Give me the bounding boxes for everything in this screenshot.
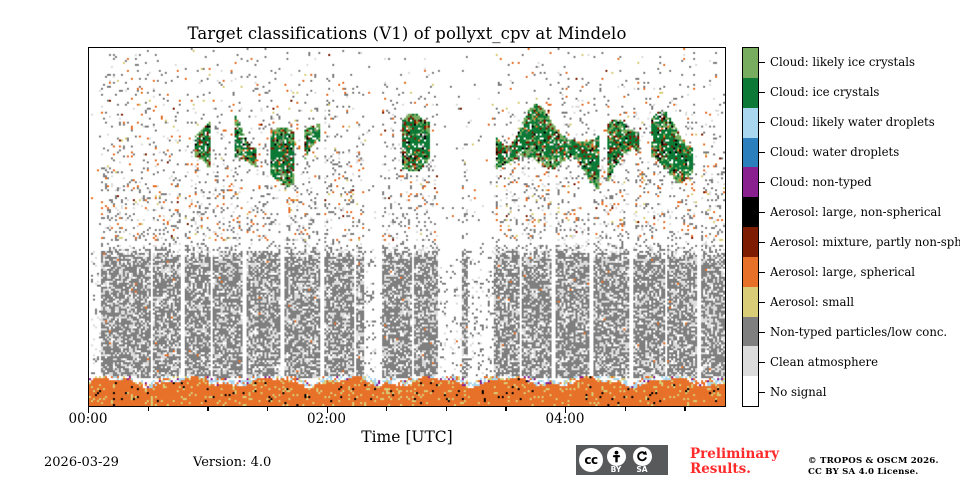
colorbar-tick xyxy=(759,332,765,333)
colorbar-segment xyxy=(743,48,758,78)
colorbar-tick xyxy=(759,242,765,243)
colorbar-label: Cloud: likely ice crystals xyxy=(770,55,915,69)
colorbar-tick xyxy=(759,92,765,93)
colorbar-tick xyxy=(759,302,765,303)
colorbar-segment xyxy=(743,317,758,347)
person-icon xyxy=(610,450,623,463)
colorbar-segment xyxy=(743,287,758,317)
colorbar-label: Cloud: ice crystals xyxy=(770,85,879,99)
colorbar-segment xyxy=(743,78,758,108)
preliminary-line-1: Preliminary xyxy=(690,447,786,462)
colorbar-segment xyxy=(743,138,758,168)
cc-logo-icon: cc xyxy=(579,448,603,472)
x-tick-label: 00:00 xyxy=(69,411,108,427)
preliminary-line-2: Results. xyxy=(690,462,786,477)
colorbar-tick xyxy=(759,122,765,123)
colorbar-segment xyxy=(743,376,758,406)
colorbar-tick xyxy=(759,272,765,273)
classification-heatmap xyxy=(89,48,725,406)
x-tick-mark-minor xyxy=(207,407,208,411)
colorbar-label: Aerosol: large, spherical xyxy=(770,265,915,279)
colorbar-tick xyxy=(759,152,765,153)
colorbar-tick xyxy=(759,362,765,363)
colorbar-label: Cloud: non-typed xyxy=(770,175,872,189)
page-title: Target classifications (V1) of pollyxt_c… xyxy=(88,24,726,43)
copyright-credits: © TROPOS & OSCM 2026. CC BY SA 4.0 Licen… xyxy=(808,456,939,478)
cc-sa-icon: SA xyxy=(629,445,655,475)
colorbar-segment xyxy=(743,257,758,287)
creative-commons-badge: cc BY SA xyxy=(576,445,668,475)
preliminary-results-notice: Preliminary Results. xyxy=(690,447,786,477)
colorbar-tick xyxy=(759,62,765,63)
colorbar-label: Cloud: water droplets xyxy=(770,145,899,159)
footer-version: Version: 4.0 xyxy=(193,455,271,470)
x-tick-mark-minor xyxy=(446,407,447,411)
x-tick-mark-minor xyxy=(267,407,268,411)
footer-date: 2026-03-29 xyxy=(44,455,119,470)
colorbar-label: Cloud: likely water droplets xyxy=(770,115,935,129)
colorbar-tick xyxy=(759,212,765,213)
share-alike-icon xyxy=(636,450,649,463)
x-tick-mark-minor xyxy=(148,407,149,411)
credit-line-1: © TROPOS & OSCM 2026. xyxy=(808,456,939,467)
x-tick-mark-minor xyxy=(625,407,626,411)
x-tick-label: 02:00 xyxy=(307,411,346,427)
colorbar xyxy=(742,47,759,407)
x-tick-mark-minor xyxy=(505,407,506,411)
plot-area xyxy=(88,47,726,407)
x-axis-label: Time [UTC] xyxy=(88,428,726,446)
x-tick-mark xyxy=(88,407,89,413)
cc-by-label: BY xyxy=(611,466,622,474)
colorbar-segment xyxy=(743,346,758,376)
colorbar-segment xyxy=(743,108,758,138)
colorbar-tick xyxy=(759,182,765,183)
colorbar-label: Aerosol: mixture, partly non-spherical xyxy=(770,235,960,249)
colorbar-segment xyxy=(743,167,758,197)
colorbar-tick xyxy=(759,392,765,393)
y-axis-ticks: 246810121416 xyxy=(0,0,88,480)
x-tick-mark xyxy=(565,407,566,413)
x-tick-label: 04:00 xyxy=(546,411,585,427)
colorbar-label: Aerosol: large, non-spherical xyxy=(770,205,941,219)
colorbar-segment xyxy=(743,227,758,257)
x-tick-mark-minor xyxy=(684,407,685,411)
cc-by-icon: BY xyxy=(603,445,629,475)
cc-sa-label: SA xyxy=(636,466,647,474)
colorbar-label: Aerosol: small xyxy=(770,295,854,309)
colorbar-segment xyxy=(743,197,758,227)
colorbar-label: No signal xyxy=(770,385,826,399)
colorbar-label: Non-typed particles/low conc. xyxy=(770,325,947,339)
x-tick-mark-minor xyxy=(386,407,387,411)
colorbar-label: Clean atmosphere xyxy=(770,355,878,369)
figure-root: Target classifications (V1) of pollyxt_c… xyxy=(0,0,960,480)
credit-line-2: CC BY SA 4.0 License. xyxy=(808,467,939,478)
x-tick-mark xyxy=(327,407,328,413)
